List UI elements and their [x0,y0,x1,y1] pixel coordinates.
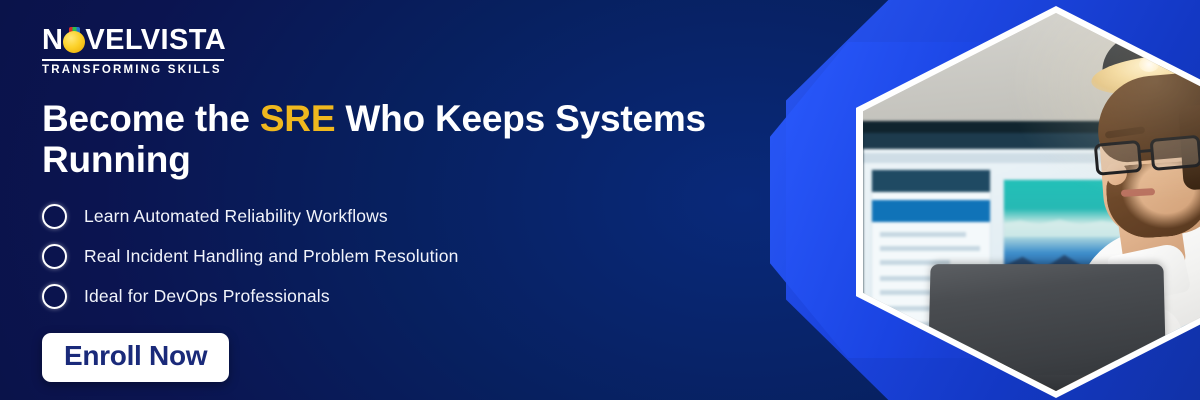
brand-tagline: TRANSFORMING SKILLS [42,64,224,76]
list-item: Learn Automated Reliability Workflows [42,197,742,237]
brand-name-part2: VELVISTA [85,24,226,56]
lamp-bulb [1139,57,1159,72]
logo-divider [42,59,224,61]
list-item-label: Ideal for DevOps Professionals [84,286,330,307]
banner-content: NVELVISTA TRANSFORMING SKILLS Become the… [42,26,742,382]
enroll-now-button[interactable]: Enroll Now [42,333,229,382]
ring-icon [42,204,67,229]
list-item-label: Learn Automated Reliability Workflows [84,206,388,227]
list-item-label: Real Incident Handling and Problem Resol… [84,246,458,267]
brand-name: NVELVISTA [42,26,224,55]
list-item: Ideal for DevOps Professionals [42,277,742,317]
feature-list: Learn Automated Reliability Workflows Re… [42,197,742,317]
lightbulb-icon [62,27,86,53]
brand-logo: NVELVISTA TRANSFORMING SKILLS [42,26,224,76]
list-item: Real Incident Handling and Problem Resol… [42,237,742,277]
headline-before: Become the [42,98,260,139]
ring-icon [42,284,67,309]
promo-banner: NVELVISTA TRANSFORMING SKILLS Become the… [0,0,1200,400]
page-title: Become the SRE Who Keeps Systems Running [42,98,742,181]
ring-icon [42,244,67,269]
headline-highlight: SRE [260,98,335,139]
brand-name-part1: N [42,24,63,56]
